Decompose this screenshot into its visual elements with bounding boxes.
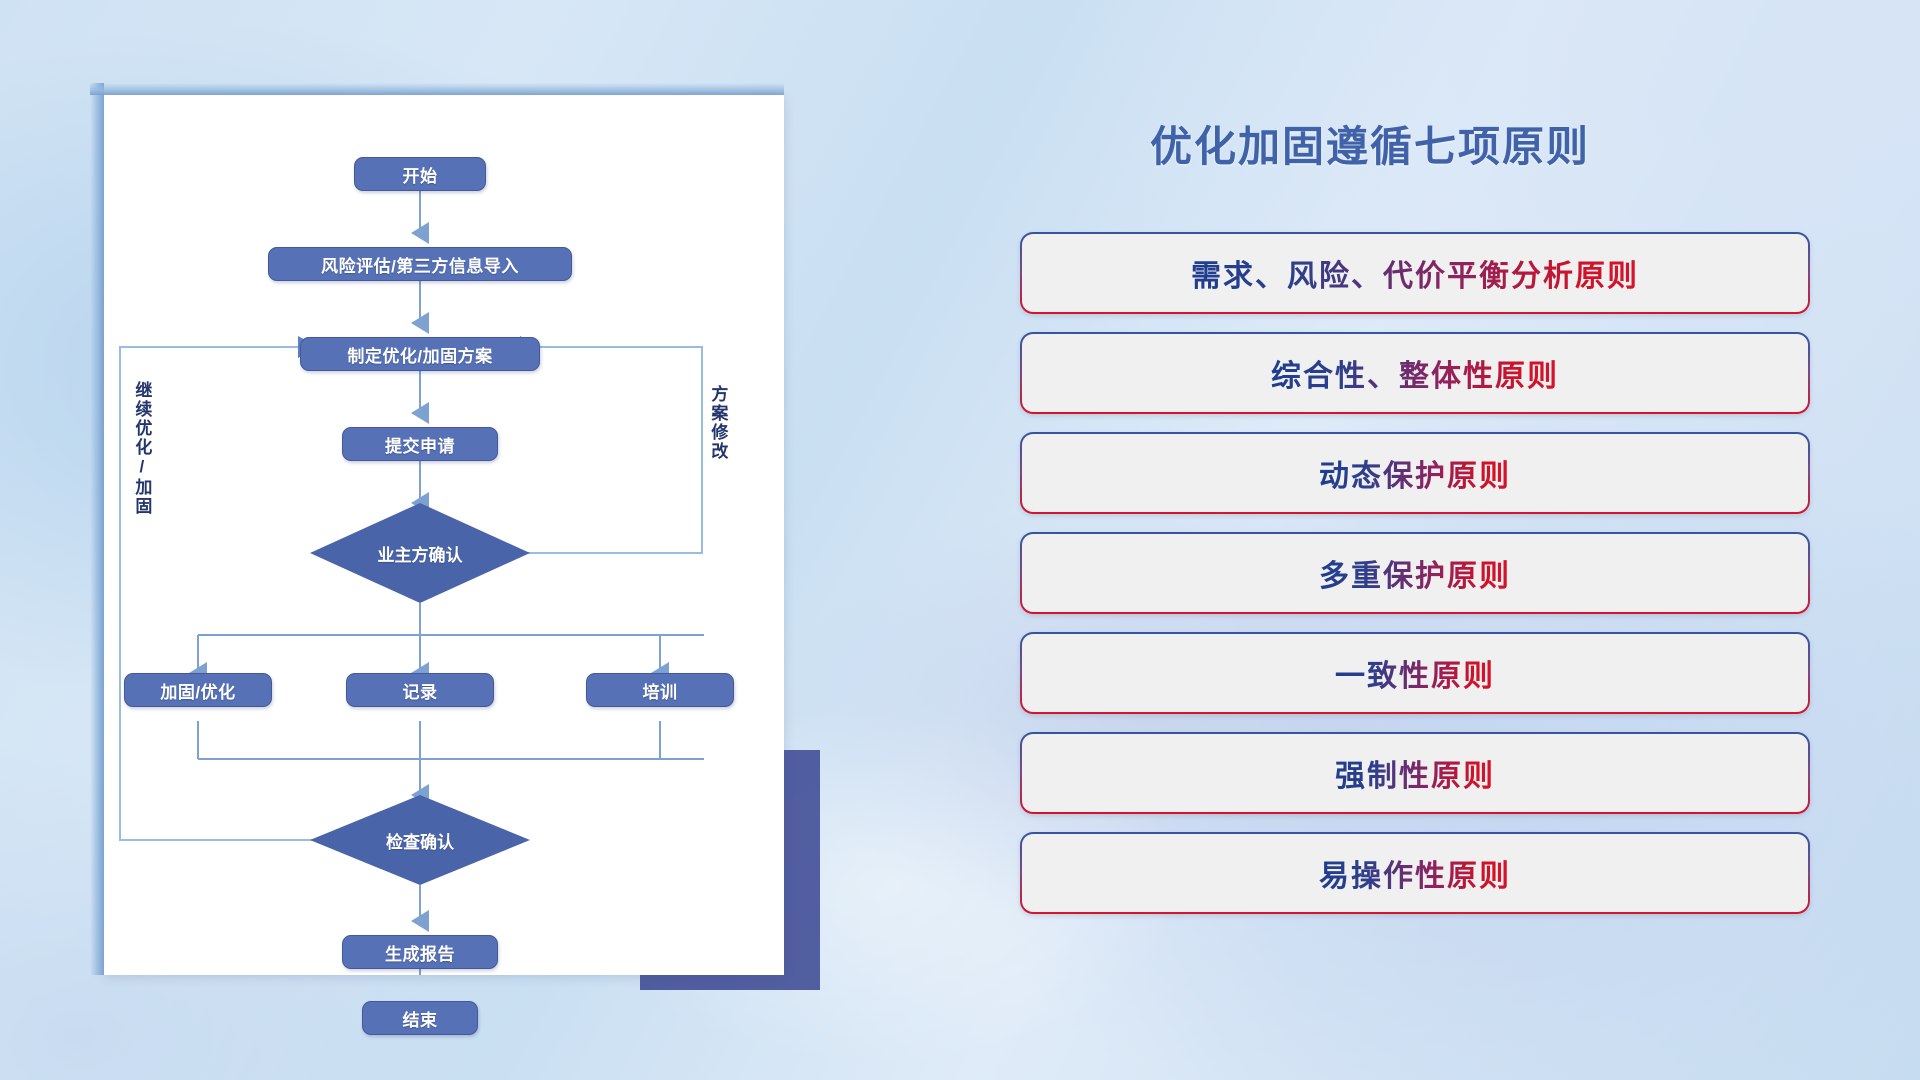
principle-label: 动态保护原则 [1319,451,1511,495]
flow-node-label: 记录 [403,678,438,703]
principle-card-body: 易操作性原则 [1022,834,1808,912]
flow-node-label: 加固/优化 [160,678,235,703]
principle-card-body: 综合性、整体性原则 [1022,334,1808,412]
flow-node-start[interactable]: 开始 [354,157,486,191]
flow-node-training[interactable]: 培训 [586,673,734,707]
principle-card[interactable]: 综合性、整体性原则 [1020,332,1810,414]
flow-node-label: 提交申请 [385,432,455,457]
principle-card[interactable]: 一致性原则 [1020,632,1810,714]
principle-label: 需求、风险、代价平衡分析原则 [1191,251,1639,295]
edge-label-continue-optimize: 继续优化/加固 [132,381,150,516]
flow-node-label: 生成报告 [385,940,455,965]
flow-node-owner-confirm[interactable]: 业主方确认 [310,503,530,603]
flow-node-label: 检查确认 [386,828,454,853]
flow-node-label: 培训 [643,678,678,703]
principle-label: 强制性原则 [1335,751,1495,795]
flow-node-label: 制定优化/加固方案 [347,342,492,367]
principle-label: 多重保护原则 [1319,551,1511,595]
principle-label: 综合性、整体性原则 [1271,351,1559,395]
principle-card[interactable]: 动态保护原则 [1020,432,1810,514]
flow-node-risk-assessment[interactable]: 风险评估/第三方信息导入 [268,247,572,281]
principle-card[interactable]: 需求、风险、代价平衡分析原则 [1020,232,1810,314]
principle-card-body: 强制性原则 [1022,734,1808,812]
principle-card-body: 多重保护原则 [1022,534,1808,612]
principle-card[interactable]: 强制性原则 [1020,732,1810,814]
flow-node-label: 风险评估/第三方信息导入 [321,252,519,277]
principles-panel: 优化加固遵循七项原则 需求、风险、代价平衡分析原则 综合性、整体性原则 动态保护… [1020,95,1830,995]
flow-node-end[interactable]: 结束 [362,1001,478,1035]
flow-node-label: 业主方确认 [378,541,463,566]
flow-node-generate-report[interactable]: 生成报告 [342,935,498,969]
flow-node-label: 开始 [403,162,438,187]
flow-node-record[interactable]: 记录 [346,673,494,707]
flow-node-plan[interactable]: 制定优化/加固方案 [300,337,540,371]
principle-label: 一致性原则 [1335,651,1495,695]
principles-list: 需求、风险、代价平衡分析原则 综合性、整体性原则 动态保护原则 多重保护原则 一… [1020,232,1810,932]
principle-card-body: 一致性原则 [1022,634,1808,712]
principle-card-body: 需求、风险、代价平衡分析原则 [1022,234,1808,312]
panel-title: 优化加固遵循七项原则 [1150,113,1590,174]
principle-label: 易操作性原则 [1319,851,1511,895]
principle-card-body: 动态保护原则 [1022,434,1808,512]
flowchart-canvas: 开始 风险评估/第三方信息导入 制定优化/加固方案 提交申请 业主方确认 加固/… [104,95,784,975]
edge-label-plan-revision: 方案修改 [708,385,726,461]
principle-card[interactable]: 多重保护原则 [1020,532,1810,614]
flow-node-inspection-confirm[interactable]: 检查确认 [310,795,530,885]
principle-card[interactable]: 易操作性原则 [1020,832,1810,914]
flow-node-label: 结束 [403,1006,438,1031]
flow-node-submit-application[interactable]: 提交申请 [342,427,498,461]
flow-node-reinforce[interactable]: 加固/优化 [124,673,272,707]
